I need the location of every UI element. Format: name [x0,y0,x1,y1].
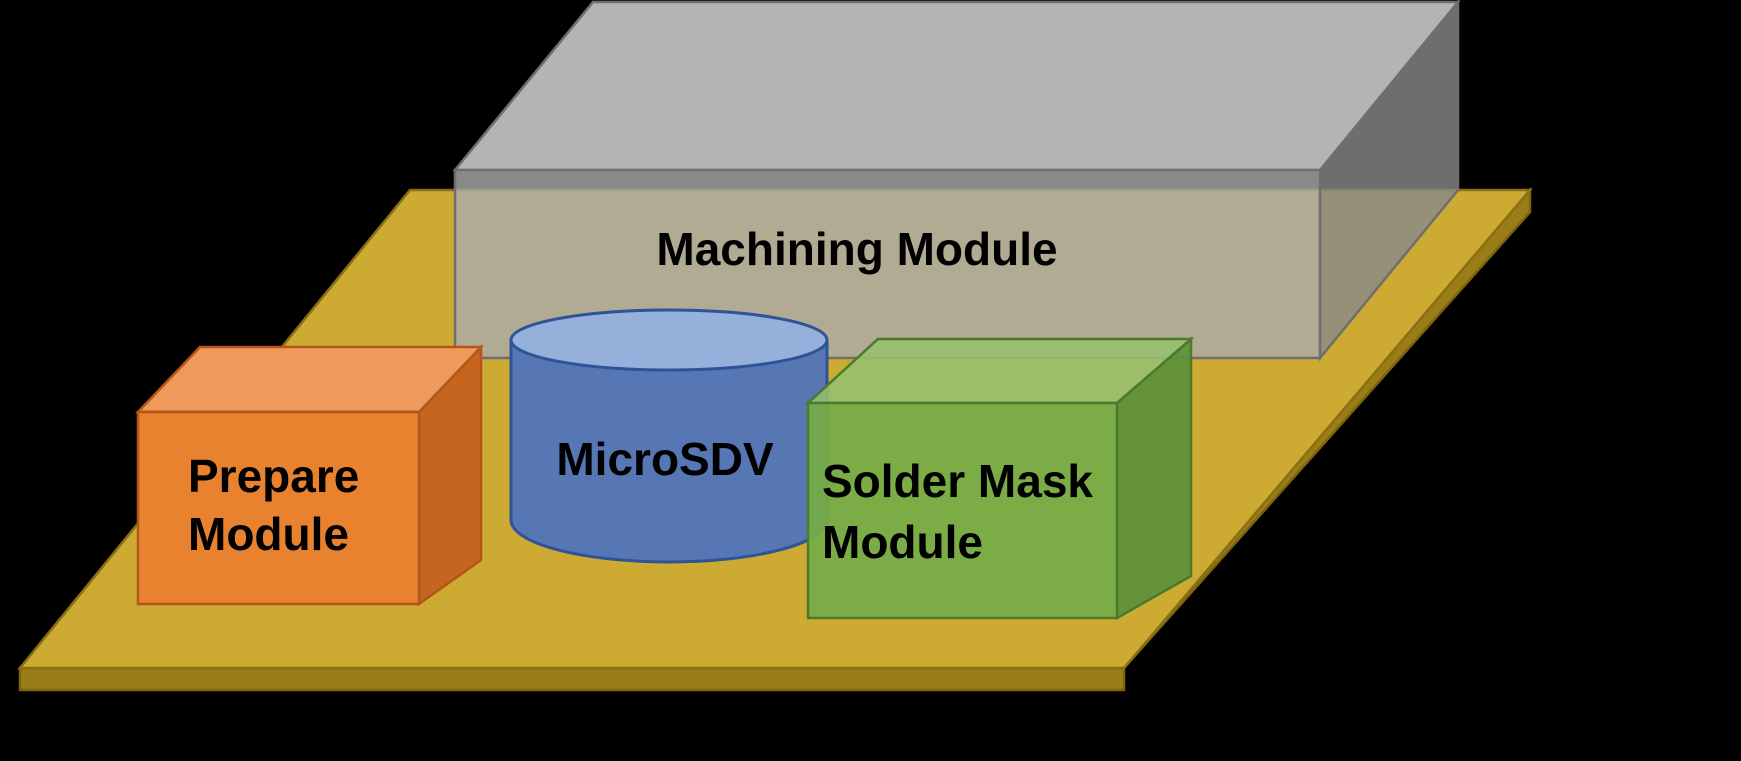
machining-module-top-face [455,2,1458,170]
prepare-module-label-line2: Module [188,508,349,560]
microsdv-cylinder-top [511,310,827,370]
microsdv-cylinder[interactable]: MicroSDV [511,310,827,562]
solder-mask-module-label-line2: Module [822,516,983,568]
diagram-canvas: Machining Module Prepare Module MicroSDV [0,0,1741,761]
microsdv-label: MicroSDV [556,433,774,485]
solder-mask-module-front-face [808,403,1117,618]
system-architecture-diagram: Machining Module Prepare Module MicroSDV [0,0,1741,761]
prepare-module-label-line1: Prepare [188,450,359,502]
prepare-module[interactable]: Prepare Module [138,347,481,604]
machining-module-label: Machining Module [656,223,1057,275]
machining-module[interactable]: Machining Module [455,2,1458,358]
prepare-module-top-face [138,347,481,412]
solder-mask-module-label-line1: Solder Mask [822,455,1093,507]
solder-mask-module[interactable]: Solder Mask Module [808,339,1191,618]
